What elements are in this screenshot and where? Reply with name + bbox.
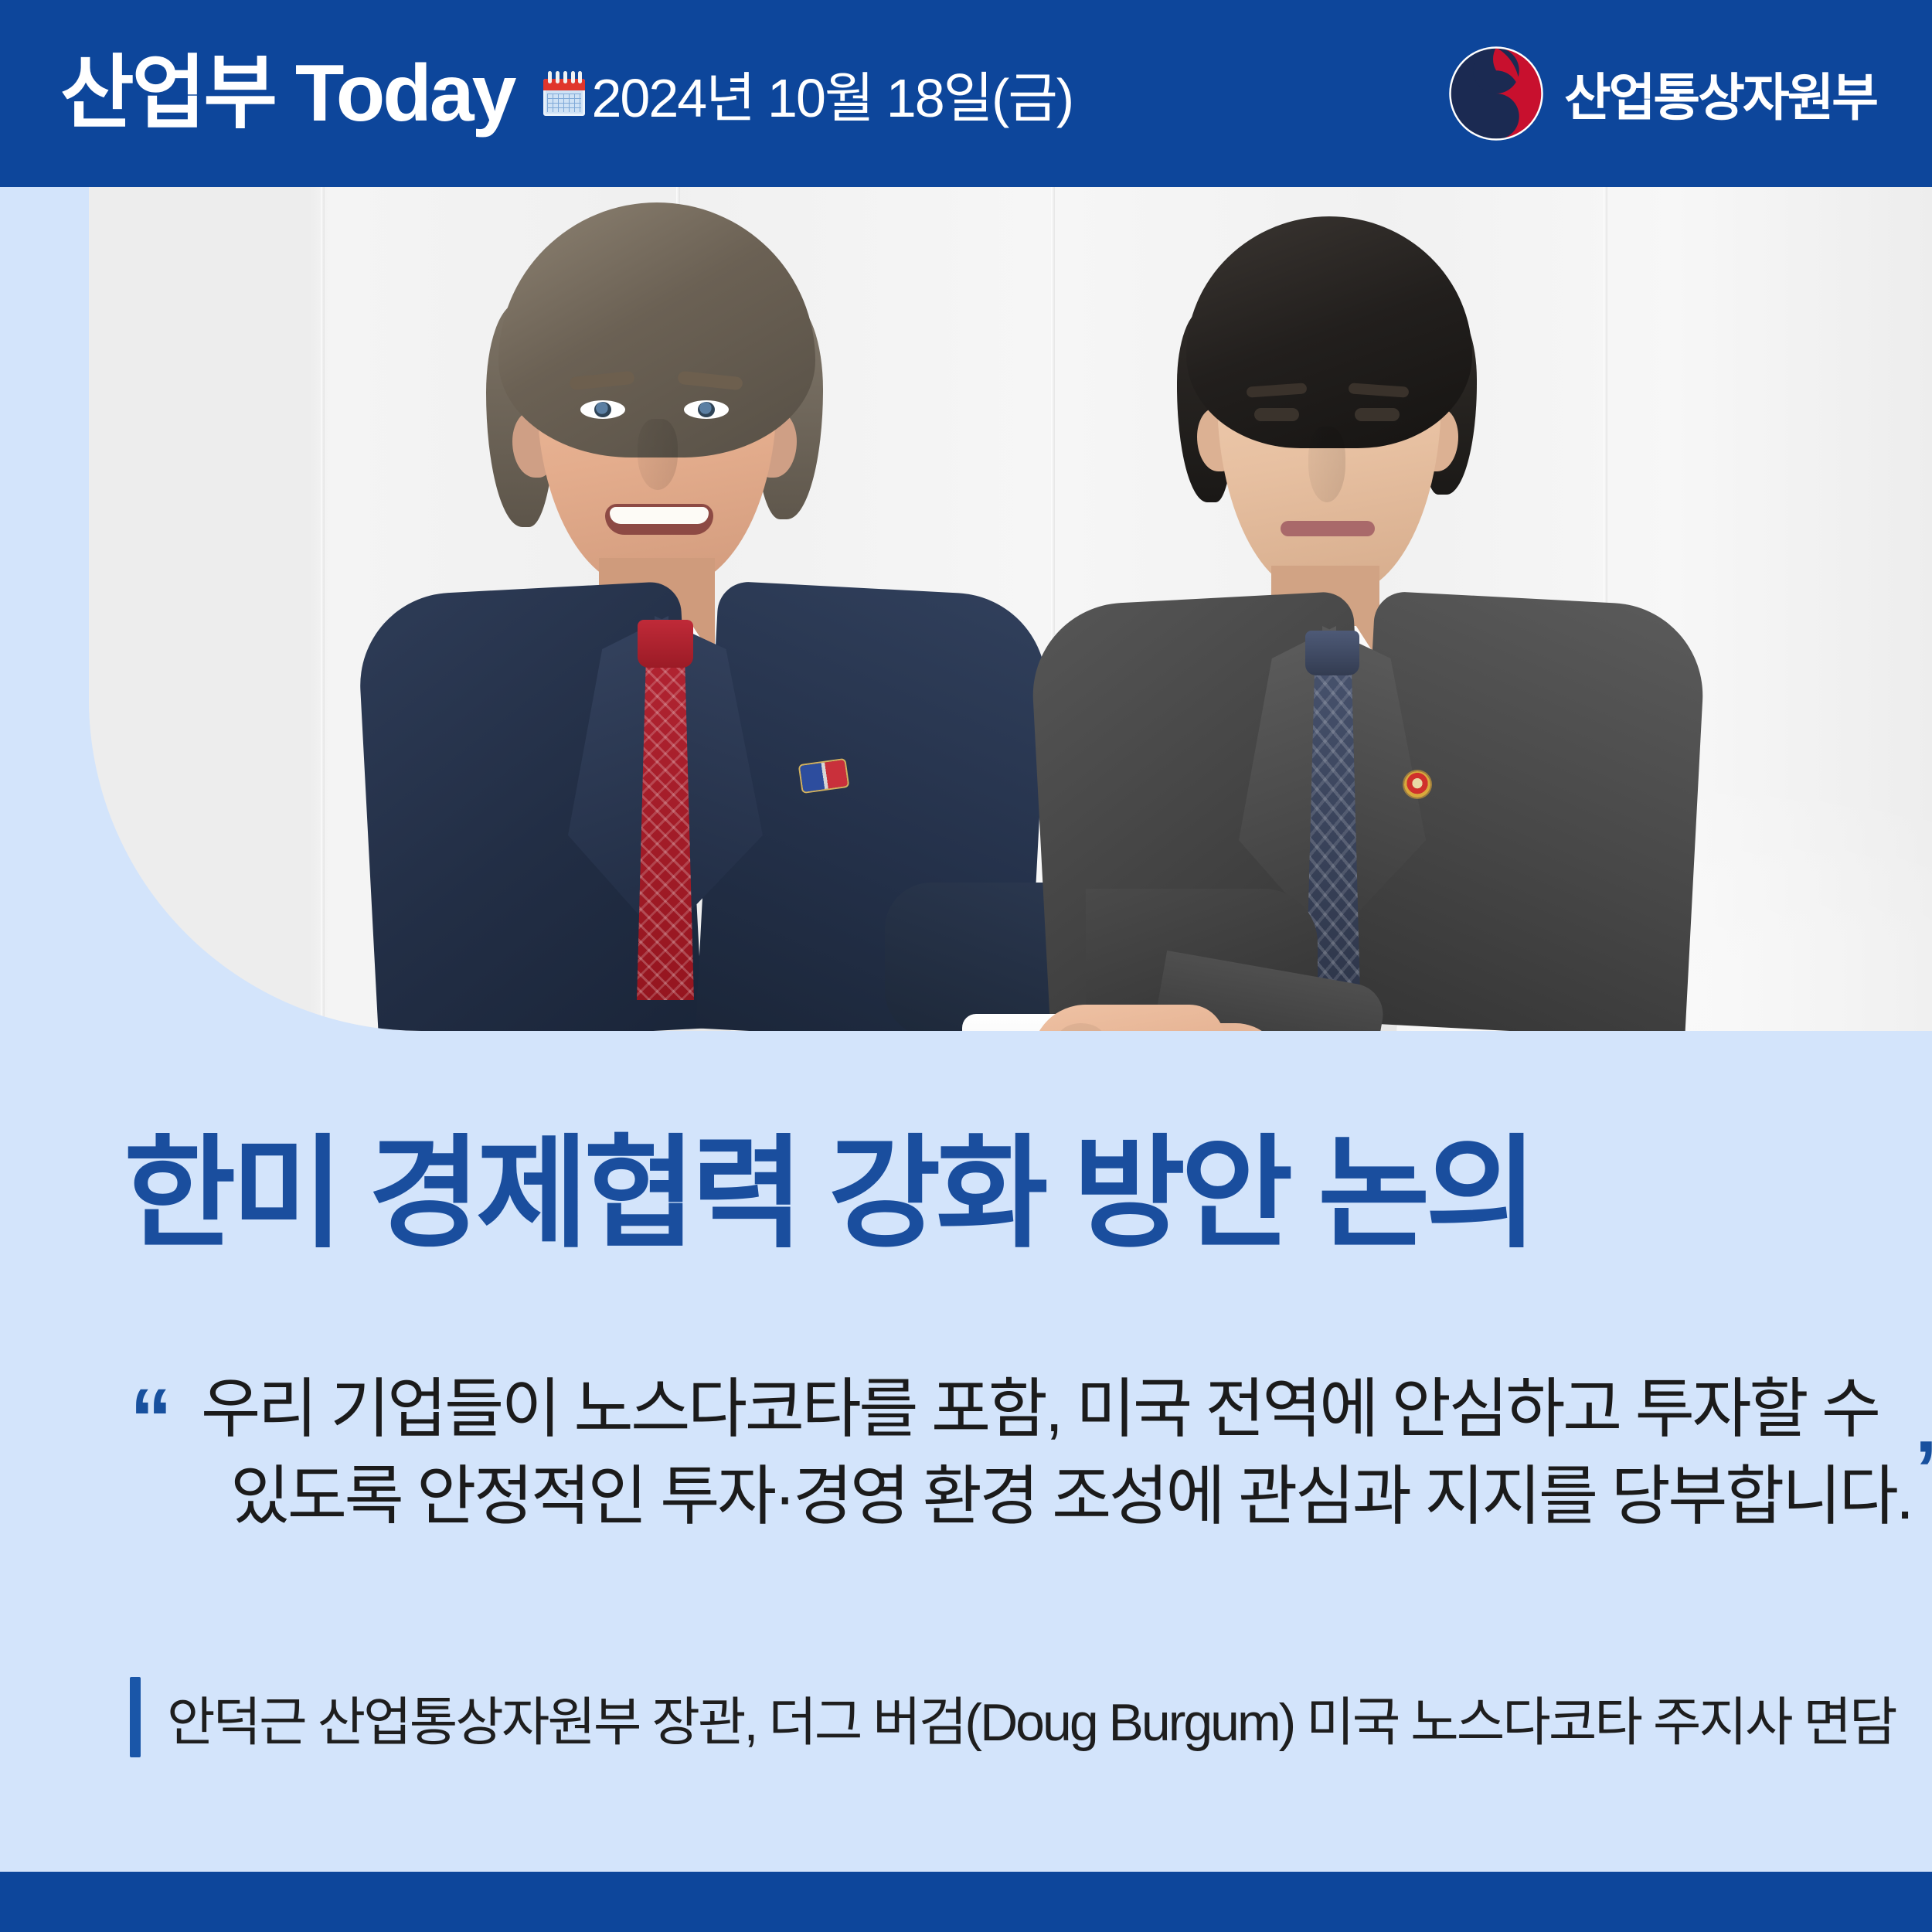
date-group: 2024년 10월 18일(금) bbox=[543, 55, 1073, 133]
handshake bbox=[962, 969, 1364, 1031]
page-title: 한미 경제협력 강화 방안 논의 bbox=[124, 1124, 1824, 1265]
footer-bar bbox=[0, 1872, 1932, 1932]
caption-accent-bar bbox=[130, 1677, 141, 1757]
taegeuk-emblem-icon bbox=[1448, 46, 1544, 141]
info-card: 산업부 Today 2024년 10월 18일(금) bbox=[0, 0, 1932, 1932]
person-doug-burgum bbox=[452, 187, 1086, 1031]
header-bar: 산업부 Today 2024년 10월 18일(금) bbox=[0, 0, 1932, 187]
header-date: 2024년 10월 18일(금) bbox=[591, 55, 1073, 133]
quote-block: “ 우리 기업들이 노스다코타를 포함, 미국 전역에 안심하고 투자할 수 있… bbox=[130, 1368, 1869, 1538]
caption-text: 안덕근 산업통상자원부 장관, 더그 버검(Doug Burgum) 미국 노스… bbox=[167, 1679, 1896, 1756]
close-quote-icon: ” bbox=[1914, 1425, 1932, 1515]
quote-line-2: 있도록 안정적인 투자·경영 환경 조성에 관심과 지지를 당부합니다.” bbox=[130, 1451, 1869, 1539]
quote-text-1: 우리 기업들이 노스다코타를 포함, 미국 전역에 안심하고 투자할 수 bbox=[201, 1372, 1879, 1445]
ministry-logo-group: 산업통상자원부 bbox=[1448, 46, 1876, 141]
brand-title: 산업부 Today bbox=[60, 53, 514, 134]
caption-row: 안덕근 산업통상자원부 장관, 더그 버검(Doug Burgum) 미국 노스… bbox=[130, 1677, 1896, 1757]
open-quote-icon: “ bbox=[130, 1377, 170, 1462]
calendar-icon bbox=[543, 71, 585, 116]
government-lapel-pin-icon bbox=[1404, 771, 1430, 798]
quote-text-2: 있도록 안정적인 투자·경영 환경 조성에 관심과 지지를 당부합니다. bbox=[230, 1460, 1911, 1532]
person-ahn-duk-geun bbox=[1117, 209, 1735, 1031]
ministry-name: 산업통상자원부 bbox=[1564, 56, 1876, 131]
quote-line-1: “ 우리 기업들이 노스다코타를 포함, 미국 전역에 안심하고 투자할 수 bbox=[130, 1368, 1869, 1451]
meeting-photo bbox=[89, 187, 1932, 1031]
brand-block: 산업부 Today bbox=[60, 53, 514, 134]
